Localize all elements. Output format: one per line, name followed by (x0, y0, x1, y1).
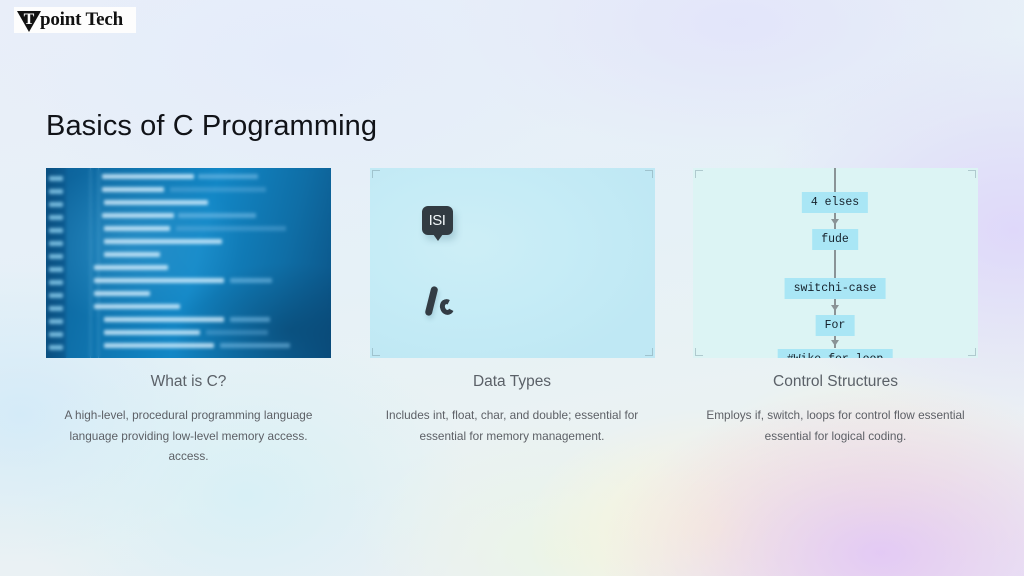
cards-row: What is C? A high-level, procedural prog… (46, 168, 978, 467)
logo-mark-letter: T (17, 11, 41, 28)
page-title: Basics of C Programming (46, 110, 377, 143)
card-heading: What is C? (46, 373, 331, 391)
crop-mark-top-right (645, 170, 653, 178)
slash-c-icon (422, 286, 462, 318)
crop-mark-top-left (372, 170, 380, 178)
crop-mark-bottom-left (695, 348, 703, 356)
card-media-code-photo (46, 168, 331, 358)
logo-wordmark: point Tech (40, 9, 123, 31)
crop-mark-bottom-right (645, 348, 653, 356)
isi-speech-bubble-icon: ISI (422, 206, 453, 235)
card-control-structures: 4 elses fude switchi-case For #Wike-for … (693, 168, 978, 467)
card-what-is-c: What is C? A high-level, procedural prog… (46, 168, 331, 467)
code-screen-image (46, 168, 331, 358)
card-media-flowchart: 4 elses fude switchi-case For #Wike-for … (693, 168, 978, 358)
crop-mark-top-left (695, 170, 703, 178)
card-heading: Data Types (370, 373, 655, 391)
crop-mark-bottom-right (968, 348, 976, 356)
tpoint-tech-logo: T point Tech (14, 7, 136, 33)
card-description: Employs if, switch, loops for control fl… (693, 405, 978, 446)
flow-node: #Wike-for loop (778, 349, 893, 358)
isi-badge-label: ISI (422, 206, 453, 235)
card-heading: Control Structures (693, 373, 978, 391)
crop-mark-top-right (968, 170, 976, 178)
line-number-gutter (46, 168, 66, 358)
flowchart-panel: 4 elses fude switchi-case For #Wike-for … (693, 168, 978, 358)
card-data-types: ISI Data Types Includes int, float, char… (370, 168, 655, 467)
card-description: Includes int, float, char, and double; e… (370, 405, 655, 446)
flow-node: For (816, 315, 855, 336)
card-description: A high-level, procedural programming lan… (46, 405, 331, 467)
flow-node: 4 elses (802, 192, 868, 213)
flow-node: switchi-case (785, 278, 886, 299)
cyan-panel (370, 168, 655, 358)
logo-triangle-icon: T (17, 10, 41, 31)
flow-node: fude (812, 229, 858, 250)
crop-mark-bottom-left (372, 348, 380, 356)
card-media-isi-illustration: ISI (370, 168, 655, 358)
